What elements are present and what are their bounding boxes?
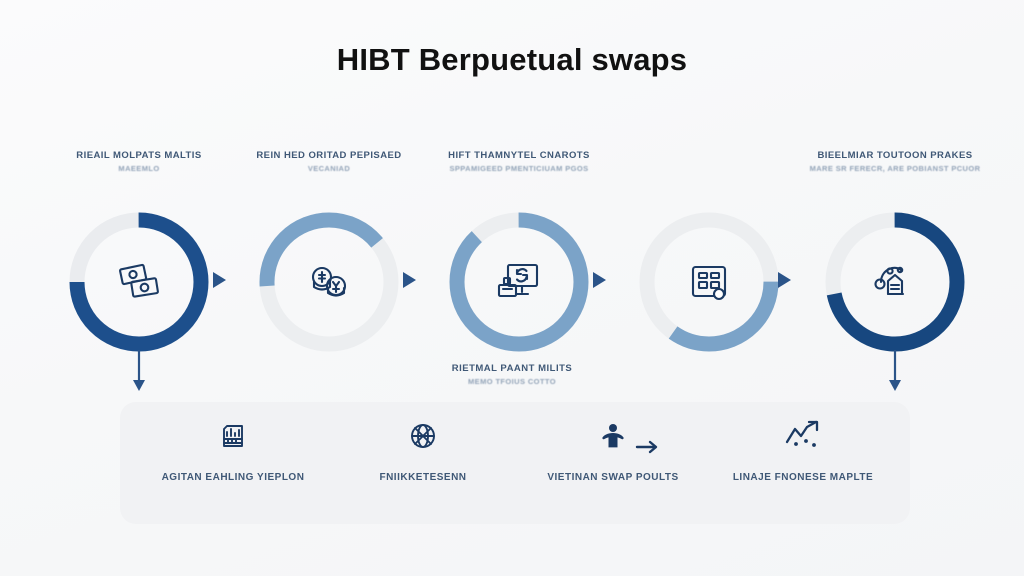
stage-4[interactable] bbox=[614, 150, 804, 380]
trend-up-icon bbox=[783, 416, 823, 452]
connector-arrow-3 bbox=[593, 272, 606, 288]
banknotes-icon bbox=[109, 252, 169, 312]
person-icon bbox=[597, 420, 629, 452]
stage-2-sublabel: VECANIAD bbox=[234, 163, 424, 175]
bottom-panel: AGITAN EAHLING YIEPLON FNIIKKETESENN bbox=[120, 402, 910, 524]
coins-icon bbox=[299, 252, 359, 312]
bank-network-icon bbox=[865, 252, 925, 312]
middle-caption-sublabel: MEMO TFOIUS COTTO bbox=[412, 376, 612, 388]
stage-4-label bbox=[614, 150, 804, 163]
stage-1-ring bbox=[65, 208, 213, 356]
globe-network-icon bbox=[407, 420, 439, 452]
stage-1[interactable]: RIEAIL MOLPATS MALTIS MAEEMLO bbox=[44, 150, 234, 380]
stage-4-sublabel bbox=[614, 163, 804, 175]
bottom-item-4[interactable]: LINAJE FNONESE MAPLTE bbox=[708, 402, 898, 524]
bottom-item-2-label: FNIIKKETESENN bbox=[328, 472, 518, 483]
middle-caption-label: RIETMAL PAANT MILITS bbox=[412, 363, 612, 376]
connector-arrow-1 bbox=[213, 272, 226, 288]
stage-5-label: BIEELMIAR TOUTOON PRAKES bbox=[800, 150, 990, 163]
stage-2-label: REIN HED ORITAD PEPISAED bbox=[234, 150, 424, 163]
connector-arrow-2 bbox=[403, 272, 416, 288]
bottom-item-4-label: LINAJE FNONESE MAPLTE bbox=[708, 472, 898, 483]
bottom-item-1-label: AGITAN EAHLING YIEPLON bbox=[138, 472, 328, 483]
stage-2-ring bbox=[255, 208, 403, 356]
stage-3-ring bbox=[445, 208, 593, 356]
bottom-item-1[interactable]: AGITAN EAHLING YIEPLON bbox=[138, 402, 328, 524]
stage-5[interactable]: BIEELMIAR TOUTOON PRAKES MARE SR FERECR,… bbox=[800, 150, 990, 380]
stage-1-down-arrow bbox=[128, 350, 150, 392]
bottom-item-2[interactable]: FNIIKKETESENN bbox=[328, 402, 518, 524]
stage-1-label: RIEAIL MOLPATS MALTIS bbox=[44, 150, 234, 163]
stage-3[interactable]: HIFT THAMNYTEL CNAROTS SPPAMIGEED PMENTI… bbox=[424, 150, 614, 380]
stage-4-ring bbox=[635, 208, 783, 356]
diagram-canvas: HIBT Berpuetual swaps RIEAIL MOLPATS MAL… bbox=[0, 0, 1024, 576]
stage-1-sublabel: MAEEMLO bbox=[44, 163, 234, 175]
stage-2[interactable]: REIN HED ORITAD PEPISAED VECANIAD bbox=[234, 150, 424, 380]
bottom-item-3[interactable]: VIETINAN SWAP POULTS bbox=[518, 402, 708, 524]
stage-row: RIEAIL MOLPATS MALTIS MAEEMLO bbox=[0, 150, 1024, 380]
stage-3-sublabel: SPPAMIGEED PMENTICIUAM PGOS bbox=[424, 163, 614, 175]
stage-3-label: HIFT THAMNYTEL CNAROTS bbox=[424, 150, 614, 163]
bottom-item-3-label: VIETINAN SWAP POULTS bbox=[518, 472, 708, 483]
monitor-swap-icon bbox=[489, 252, 549, 312]
stage-5-down-arrow bbox=[884, 350, 906, 392]
grid-search-icon bbox=[679, 252, 739, 312]
stage-5-ring bbox=[821, 208, 969, 356]
connector-arrow-4 bbox=[778, 272, 791, 288]
chart-panel-icon bbox=[217, 420, 249, 452]
page-title: HIBT Berpuetual swaps bbox=[0, 42, 1024, 78]
stage-5-sublabel: MARE SR FERECR, ARE POBIANST PCUOR bbox=[800, 163, 990, 175]
middle-caption: RIETMAL PAANT MILITS MEMO TFOIUS COTTO bbox=[412, 363, 612, 388]
